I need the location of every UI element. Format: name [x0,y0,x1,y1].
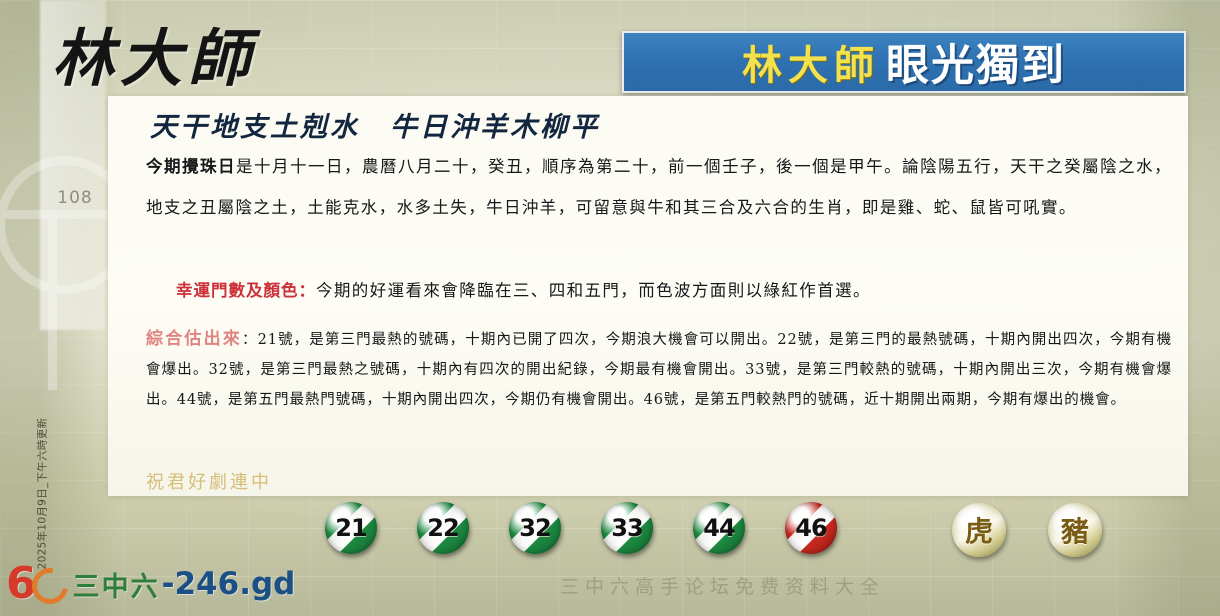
bottom-faint-watermark: 三中六高手论坛免费资料大全 [560,572,1120,606]
lottery-ball-number: 33 [611,514,642,542]
banner-slogan-text: 眼光獨到 [886,31,1066,93]
zodiac-ball[interactable]: 虎 [952,503,1006,557]
paragraph-lucky-body: 今期的好運看來會降臨在三、四和五門，而色波方面則以綠紅作首選。 [316,281,871,300]
lottery-ball-number: 44 [703,514,734,542]
zodiac-ball-row: 虎 豬 [952,503,1102,557]
paragraph-lucky: 幸運門數及顏色：今期的好運看來會降臨在三、四和五門，而色波方面則以綠紅作首選。 [176,271,1172,311]
zodiac-ball[interactable]: 豬 [1048,503,1102,557]
zodiac-ball-character: 豬 [1061,510,1089,550]
article-sheet: 天干地支土剋水 牛日沖羊木柳平 今期攪珠日是十月十一日，農曆八月二十，癸丑，順序… [108,96,1188,496]
paragraph-analysis-lead: 今期攪珠日 [146,157,236,176]
page-number: 108 [45,188,105,208]
lottery-ball-row: 21 22 32 33 44 46 [325,502,837,554]
banner-brand-text: 林大師 [742,33,886,91]
lottery-ball-number: 22 [427,514,458,542]
paragraph-picks-lead: 綜合估出來 [146,329,242,349]
lottery-ball-number: 32 [519,514,550,542]
article-title: 天干地支土剋水 牛日沖羊木柳平 [150,105,600,144]
paragraph-analysis: 今期攪珠日是十月十一日，農曆八月二十，癸丑，順序為第二十，前一個壬子，後一個是甲… [146,146,1172,228]
article-sign-off: 祝君好劇連中 [146,468,272,494]
lottery-ball[interactable]: 21 [325,502,377,554]
site-domain: -246.gd [162,566,296,602]
lottery-ball[interactable]: 32 [509,502,561,554]
paragraph-analysis-body: 是十月十一日，農曆八月二十，癸丑，順序為第二十，前一個壬子，後一個是甲午。論陰陽… [146,157,1172,217]
masthead-brand-title: 林大師 [52,22,322,96]
lottery-ball[interactable]: 46 [785,502,837,554]
zodiac-ball-character: 虎 [965,510,993,550]
page-root: 108 林大師 林大師 眼光獨到 天干地支土剋水 牛日沖羊木柳平 今期攪珠日是十… [0,0,1220,616]
lottery-ball[interactable]: 44 [693,502,745,554]
paragraph-picks: 綜合估出來：21號，是第三門最熱的號碼，十期內已開了四次，今期浪大機會可以開出。… [146,324,1172,415]
lottery-ball[interactable]: 22 [417,502,469,554]
site-watermark: 6 三中六 -246.gd [6,564,295,604]
lottery-ball[interactable]: 33 [601,502,653,554]
update-timestamp-rotated: 2025年10月9日_下午六時更新 [35,414,50,574]
paragraph-lucky-lead: 幸運門數及顏色： [176,281,316,300]
lottery-ball-number: 21 [335,514,366,542]
slogan-banner: 林大師 眼光獨到 [622,31,1186,93]
lottery-ball-number: 46 [795,514,826,542]
paragraph-picks-body: ：21號，是第三門最熱的號碼，十期內已開了四次，今期浪大機會可以開出。22號，是… [146,332,1172,408]
